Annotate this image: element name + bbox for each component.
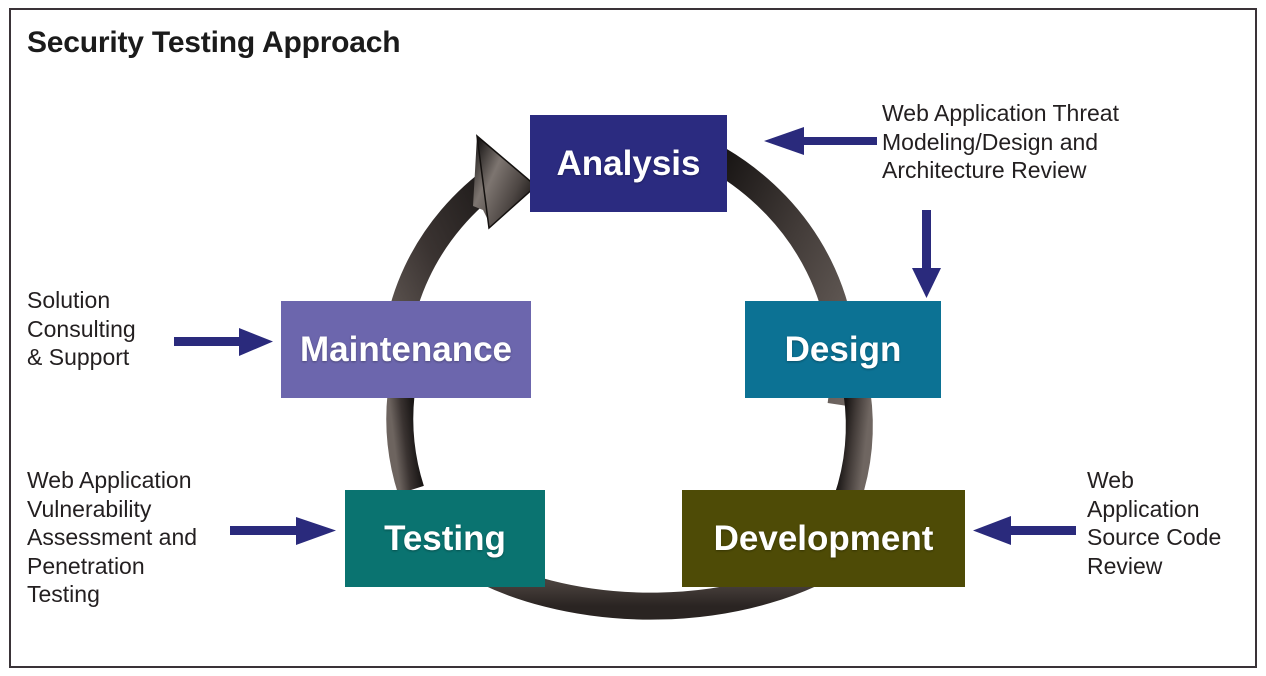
arrow-threat-to-design	[912, 210, 941, 298]
page-title: Security Testing Approach	[27, 26, 400, 60]
stage-label-maintenance: Maintenance	[300, 330, 512, 370]
ring-segment-testing-maintenance	[400, 395, 411, 490]
stage-label-design: Design	[785, 330, 902, 370]
stage-box-design[interactable]: Design	[745, 301, 941, 398]
annotation-source-code-review: Web Application Source Code Review	[1087, 466, 1266, 580]
annotation-vulnerability-assessment: Web Application Vulnerability Assessment…	[27, 466, 252, 609]
annotation-solution-consulting: Solution Consulting & Support	[27, 286, 187, 372]
arrow-source-to-development	[973, 516, 1076, 545]
ring-arrowhead-glyph	[477, 136, 536, 228]
stage-label-development: Development	[714, 519, 934, 559]
arrow-threat-to-analysis	[764, 127, 877, 155]
stage-box-analysis[interactable]: Analysis	[530, 115, 727, 212]
ring-arrowhead-icon	[473, 136, 530, 226]
stage-box-testing[interactable]: Testing	[345, 490, 545, 587]
stage-label-testing: Testing	[384, 519, 506, 559]
ring-segment-design-development	[847, 393, 859, 500]
diagram-frame: Security Testing Approach	[9, 8, 1257, 668]
stage-box-development[interactable]: Development	[682, 490, 965, 587]
stage-box-maintenance[interactable]: Maintenance	[281, 301, 531, 398]
stage-label-analysis: Analysis	[557, 144, 701, 184]
arrow-solution-to-maintenance	[174, 328, 273, 356]
annotation-threat-modeling: Web Application Threat Modeling/Design a…	[882, 99, 1212, 185]
